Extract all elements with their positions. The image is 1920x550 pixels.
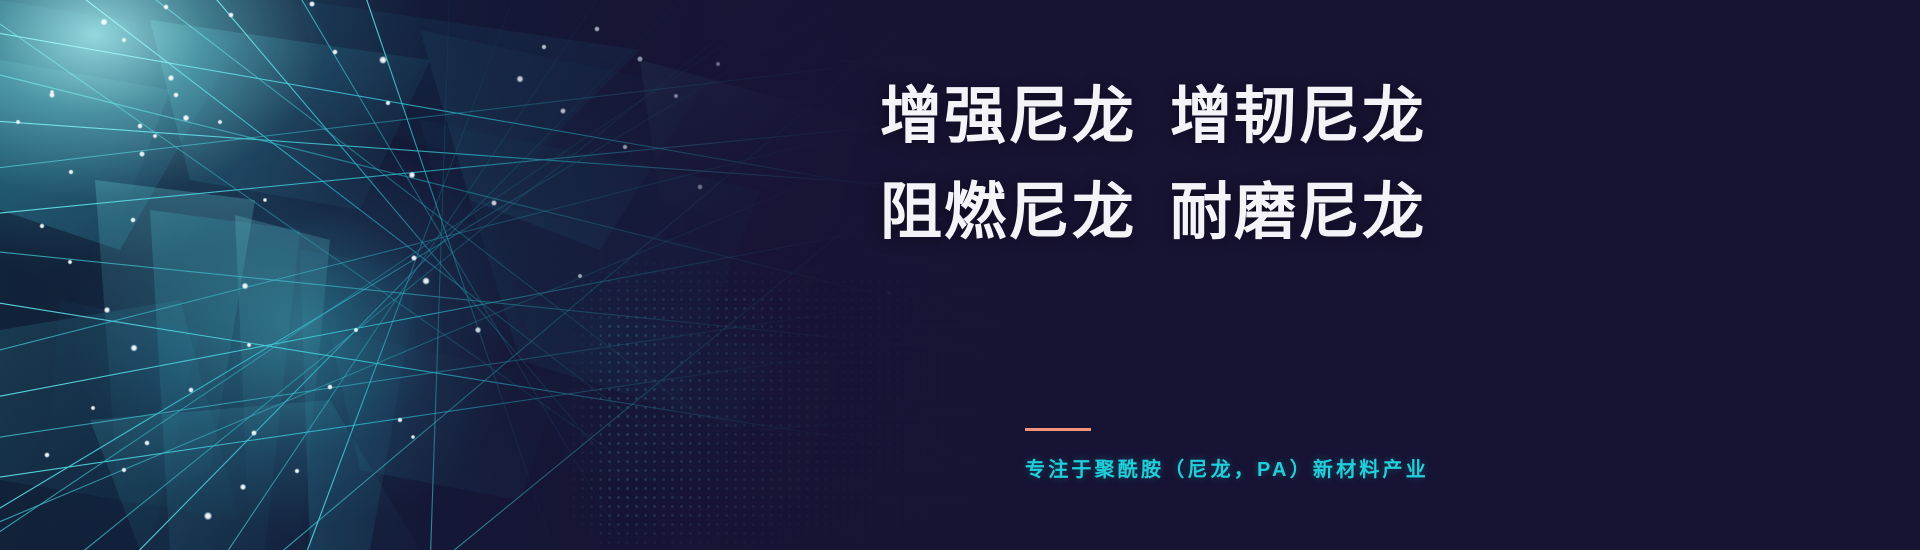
orange-divider-rule [1025,428,1091,431]
headline-line2-part2: 耐磨尼龙 [1170,178,1426,247]
tagline-block: 专注于聚酰胺（尼龙，PA）新材料产业 [1025,428,1429,482]
headline-line1-part2: 增韧尼龙 [1170,82,1426,151]
hero-banner: 增强尼龙增韧尼龙 阻燃尼龙耐磨尼龙 专注于聚酰胺（尼龙，PA）新材料产业 [0,0,1920,550]
headline-line-1: 增强尼龙增韧尼龙 [880,86,1500,148]
headline-line1-part1: 增强尼龙 [880,82,1136,151]
headline-line-2: 阻燃尼龙耐磨尼龙 [880,182,1500,244]
headline-block: 增强尼龙增韧尼龙 阻燃尼龙耐磨尼龙 [880,86,1500,244]
headline-line2-part1: 阻燃尼龙 [880,178,1136,247]
tagline-text: 专注于聚酰胺（尼龙，PA）新材料产业 [1025,453,1429,482]
